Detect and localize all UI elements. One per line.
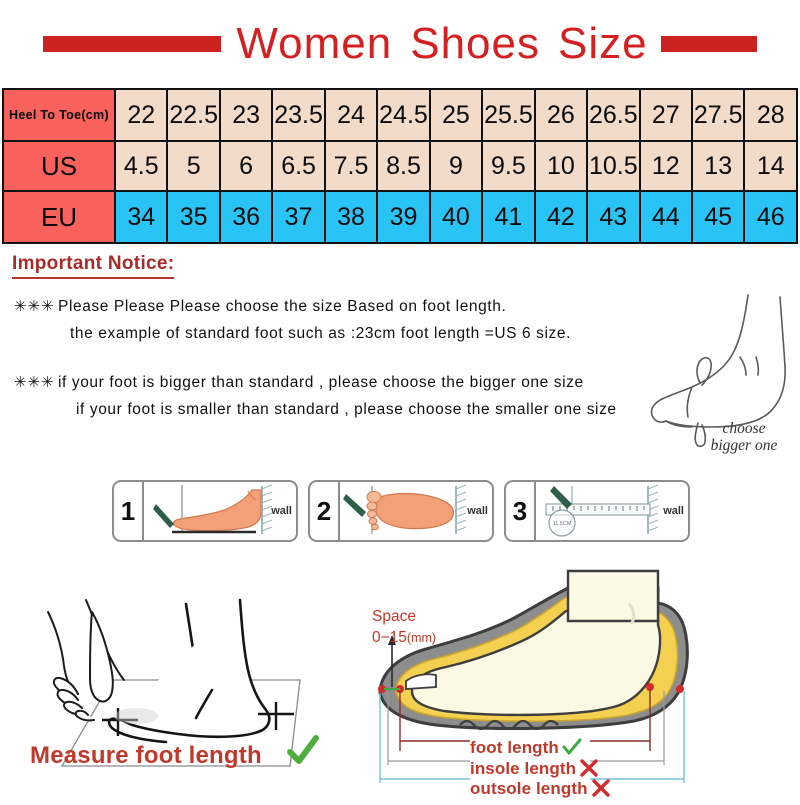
step-2-wall-label: wall bbox=[467, 505, 488, 517]
cell-heel-12: 28 bbox=[744, 89, 797, 141]
notice-p2-line1: if your foot is bigger than standard , p… bbox=[58, 374, 584, 391]
step-2: 2 bbox=[308, 480, 494, 542]
cell-us-6: 9 bbox=[430, 141, 482, 191]
cell-heel-5: 24.5 bbox=[377, 89, 429, 141]
cell-eu-7: 41 bbox=[482, 191, 534, 243]
cell-eu-8: 42 bbox=[535, 191, 587, 243]
cross-icon-insole-length bbox=[578, 759, 600, 777]
cell-us-2: 6 bbox=[220, 141, 272, 191]
cell-eu-5: 39 bbox=[377, 191, 429, 243]
check-icon-measure bbox=[285, 733, 321, 769]
cell-us-12: 14 bbox=[744, 141, 797, 191]
label-foot-length-row: foot length bbox=[470, 738, 612, 759]
step-3-illustration: 11.5CM wall bbox=[536, 482, 688, 540]
cell-eu-1: 35 bbox=[167, 191, 219, 243]
notice-stars-icon-1: ✳✳✳ bbox=[14, 293, 58, 320]
cell-us-7: 9.5 bbox=[482, 141, 534, 191]
cell-heel-1: 22.5 bbox=[167, 89, 219, 141]
choose-bigger-line1: choose bbox=[722, 420, 765, 437]
cell-heel-4: 24 bbox=[325, 89, 377, 141]
cell-heel-8: 26 bbox=[535, 89, 587, 141]
cell-us-0: 4.5 bbox=[115, 141, 167, 191]
cell-heel-0: 22 bbox=[115, 89, 167, 141]
cell-eu-9: 43 bbox=[587, 191, 639, 243]
table-row-heel-to-toe: Heel To Toe(cm) 22 22.5 23 23.5 24 24.5 … bbox=[3, 89, 797, 141]
cell-us-5: 8.5 bbox=[377, 141, 429, 191]
cell-heel-11: 27.5 bbox=[692, 89, 744, 141]
cell-heel-7: 25.5 bbox=[482, 89, 534, 141]
notice-p2-line2: if your foot is smaller than standard , … bbox=[14, 396, 674, 423]
step-1-wall-label: wall bbox=[271, 505, 292, 517]
row-label-eu: EU bbox=[3, 191, 115, 243]
title-text: WomenShoesSize bbox=[227, 21, 656, 67]
cell-heel-2: 23 bbox=[220, 89, 272, 141]
step-1-illustration: wall bbox=[144, 482, 296, 540]
cell-heel-3: 23.5 bbox=[272, 89, 324, 141]
cell-heel-6: 25 bbox=[430, 89, 482, 141]
table-row-eu: EU 34 35 36 37 38 39 40 41 42 43 44 45 4… bbox=[3, 191, 797, 243]
cell-eu-4: 38 bbox=[325, 191, 377, 243]
step-3-ruler-badge: 11.5CM bbox=[553, 521, 572, 527]
title-bar-left-decoration bbox=[43, 36, 221, 52]
cell-heel-9: 26.5 bbox=[587, 89, 639, 141]
label-foot-length: foot length bbox=[470, 738, 559, 757]
cell-heel-10: 27 bbox=[640, 89, 692, 141]
notice-body: ✳✳✳Please Please Please choose the size … bbox=[14, 293, 674, 445]
space-gap-label: Space 0−15(mm) bbox=[372, 606, 436, 649]
space-label-line1: Space bbox=[372, 608, 416, 625]
title-word-shoes: Shoes bbox=[410, 19, 540, 68]
step-2-illustration: wall bbox=[340, 482, 492, 540]
cell-eu-12: 46 bbox=[744, 191, 797, 243]
measurement-steps: 1 wall bbox=[112, 478, 690, 544]
cell-us-9: 10.5 bbox=[587, 141, 639, 191]
row-label-heel-to-toe: Heel To Toe(cm) bbox=[3, 89, 115, 141]
choose-bigger-line2: bigger one bbox=[711, 437, 778, 454]
step-1-number: 1 bbox=[114, 482, 144, 540]
label-outsole-length: outsole length bbox=[470, 779, 588, 798]
table-row-us: US 4.5 5 6 6.5 7.5 8.5 9 9.5 10 10.5 12 … bbox=[3, 141, 797, 191]
sole-measure-labels: foot length insole length outsole length bbox=[470, 738, 612, 800]
notice-paragraph-1: ✳✳✳Please Please Please choose the size … bbox=[14, 293, 674, 347]
size-chart-page: WomenShoesSize Heel To Toe(cm) 22 22.5 2… bbox=[0, 0, 800, 800]
check-icon-foot-length bbox=[561, 738, 583, 756]
choose-bigger-one-caption: choose bigger one bbox=[694, 420, 794, 454]
cell-us-11: 13 bbox=[692, 141, 744, 191]
measure-foot-length-caption: Measure foot length bbox=[30, 742, 262, 770]
label-insole-length-row: insole length bbox=[470, 759, 612, 780]
cell-eu-10: 44 bbox=[640, 191, 692, 243]
cell-us-4: 7.5 bbox=[325, 141, 377, 191]
cell-eu-0: 34 bbox=[115, 191, 167, 243]
cell-eu-11: 45 bbox=[692, 191, 744, 243]
row-label-us: US bbox=[3, 141, 115, 191]
step-1: 1 wall bbox=[112, 480, 298, 542]
cell-us-8: 10 bbox=[535, 141, 587, 191]
title-word-women: Women bbox=[236, 19, 392, 68]
title-bar-right-decoration bbox=[661, 36, 757, 52]
cell-us-3: 6.5 bbox=[272, 141, 324, 191]
size-conversion-table: Heel To Toe(cm) 22 22.5 23 23.5 24 24.5 … bbox=[2, 88, 798, 244]
cross-icon-outsole-length bbox=[590, 779, 612, 797]
title-word-size: Size bbox=[558, 19, 648, 68]
cell-eu-6: 40 bbox=[430, 191, 482, 243]
space-label-value: 0−15 bbox=[372, 629, 407, 646]
notice-p1-line1: Please Please Please choose the size Bas… bbox=[58, 298, 506, 315]
page-title: WomenShoesSize bbox=[0, 18, 800, 70]
label-insole-length: insole length bbox=[470, 759, 576, 778]
cell-us-10: 12 bbox=[640, 141, 692, 191]
cell-eu-2: 36 bbox=[220, 191, 272, 243]
cell-eu-3: 37 bbox=[272, 191, 324, 243]
step-3-number: 3 bbox=[506, 482, 536, 540]
step-3-wall-label: wall bbox=[663, 505, 684, 517]
step-2-number: 2 bbox=[310, 482, 340, 540]
cell-us-1: 5 bbox=[167, 141, 219, 191]
notice-paragraph-2: ✳✳✳if your foot is bigger than standard … bbox=[14, 369, 674, 423]
notice-stars-icon-2: ✳✳✳ bbox=[14, 369, 58, 396]
label-outsole-length-row: outsole length bbox=[470, 779, 612, 800]
important-notice-heading: Important Notice: bbox=[12, 253, 174, 279]
step-3: 3 bbox=[504, 480, 690, 542]
notice-p1-line2: the example of standard foot such as :23… bbox=[14, 320, 674, 347]
space-label-unit: (mm) bbox=[407, 631, 436, 645]
